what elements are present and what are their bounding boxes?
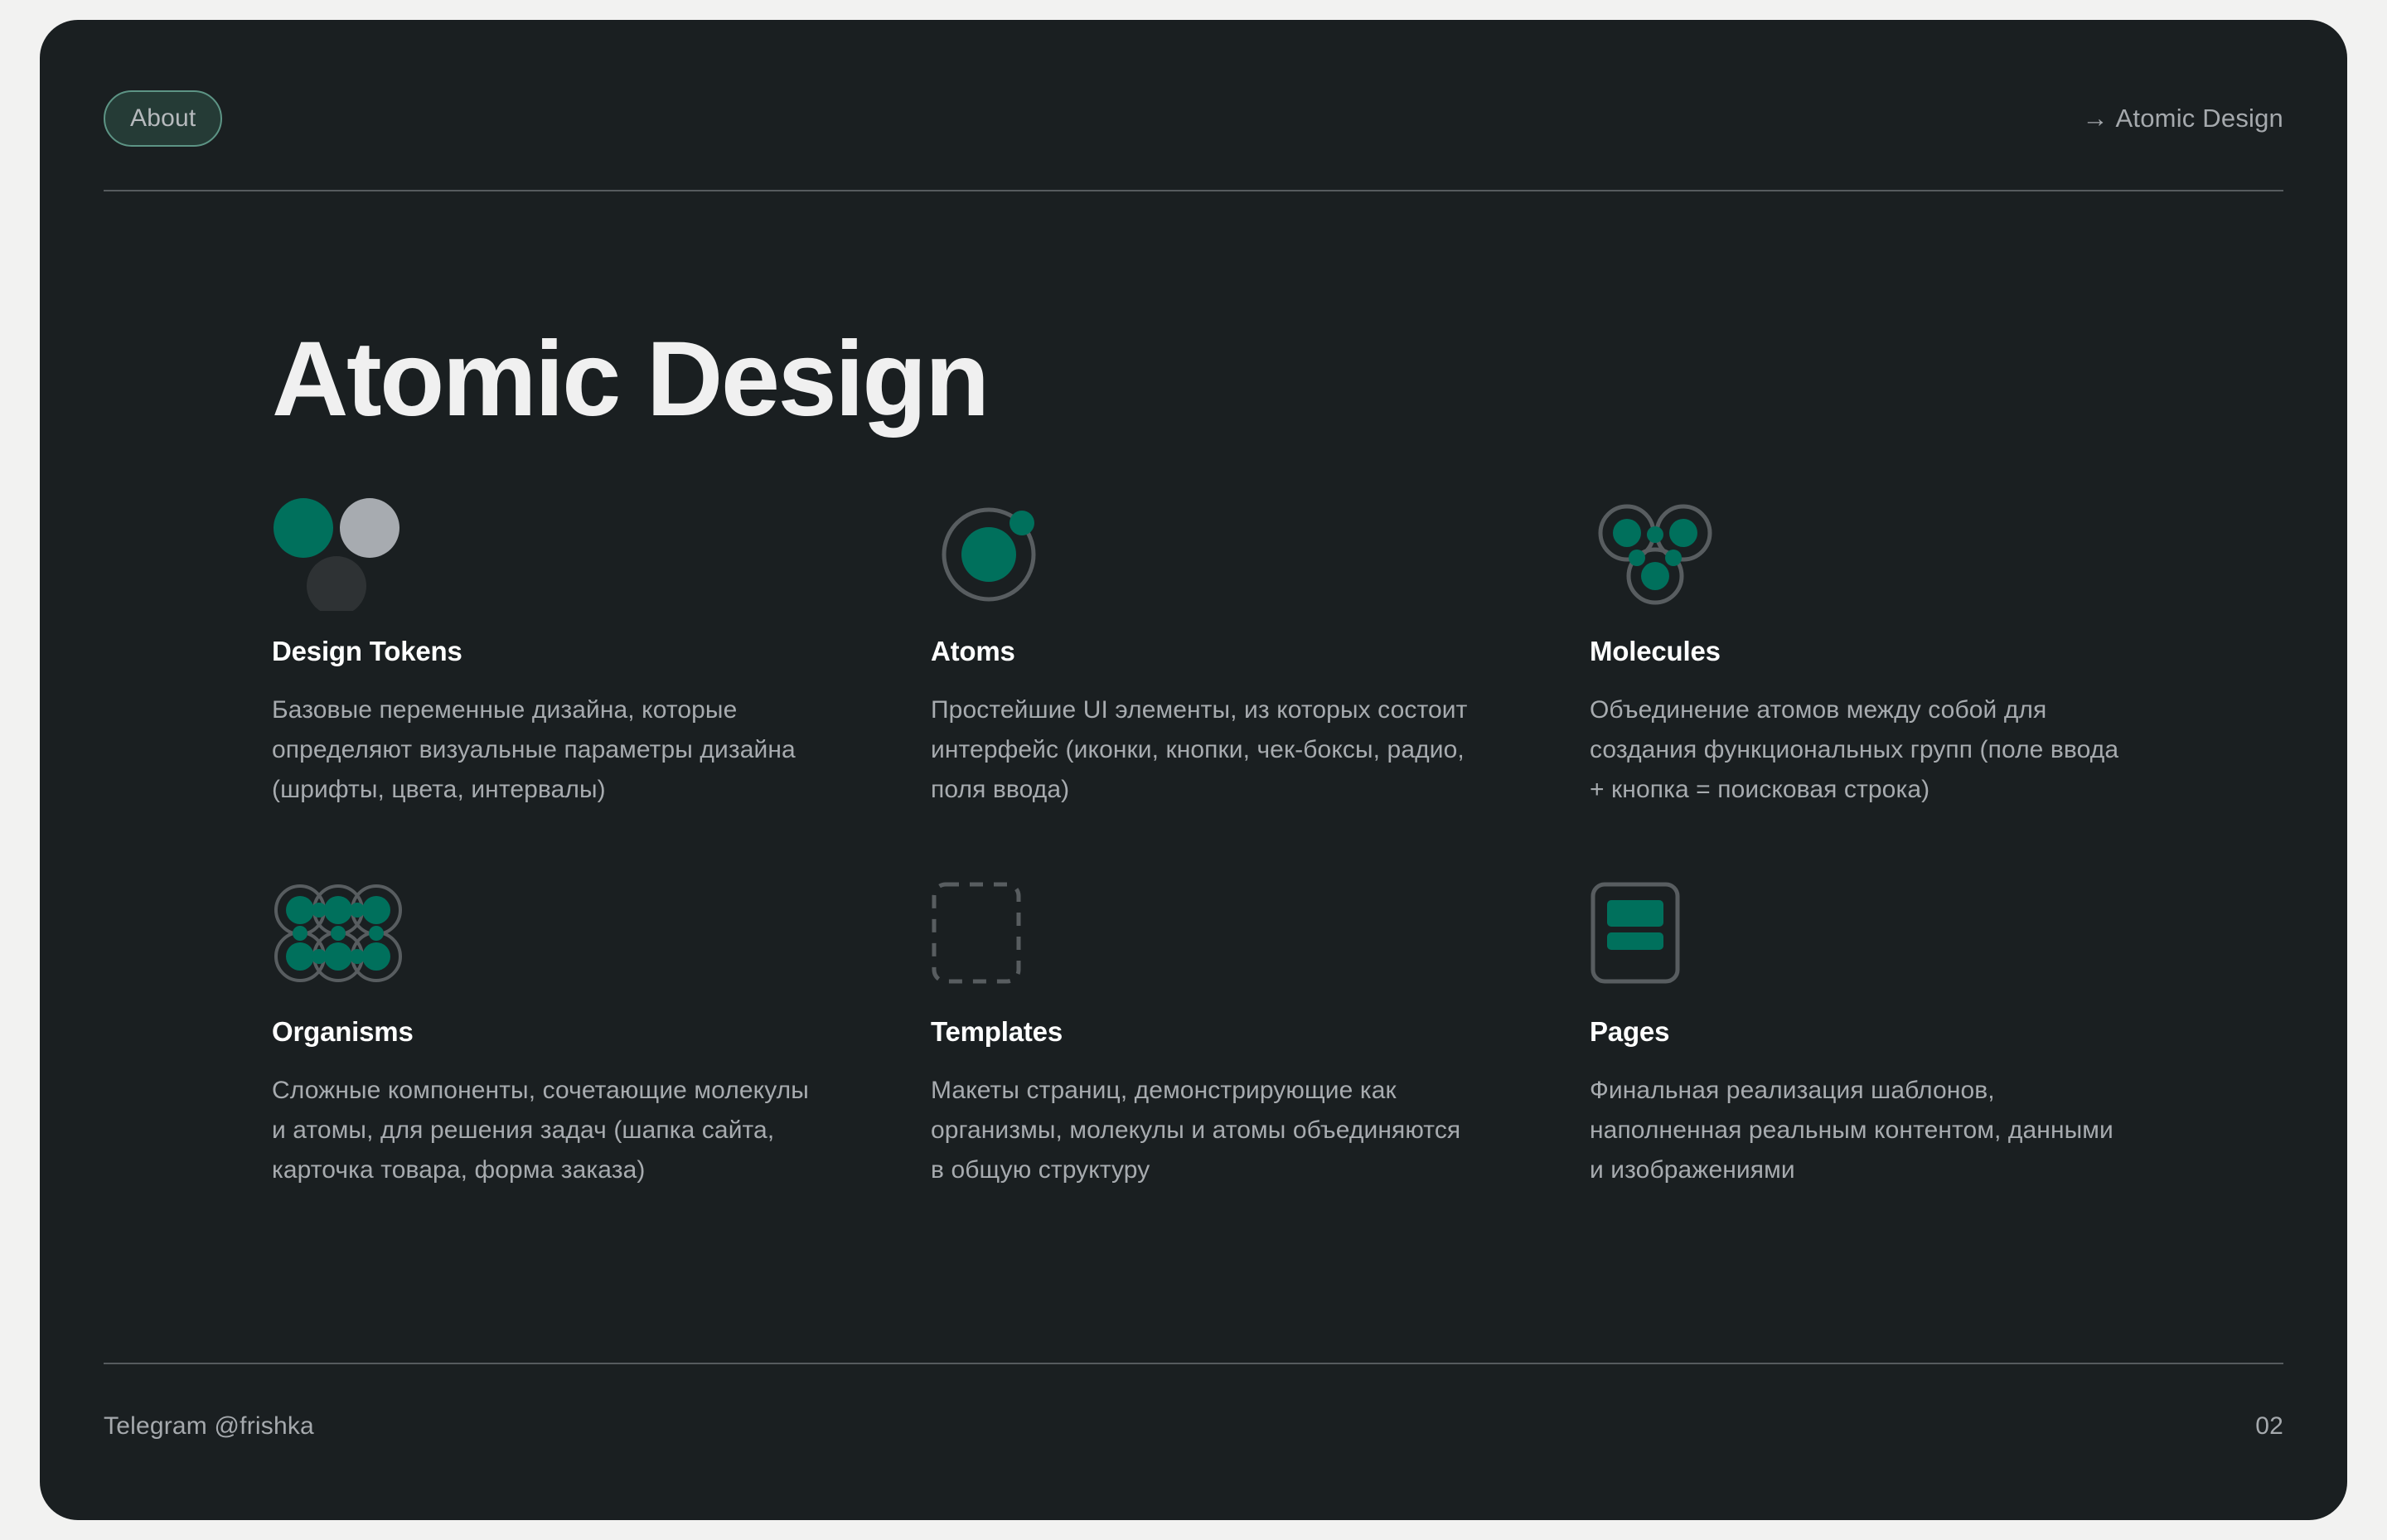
card-molecules: Molecules Объединение атомов между собой… [1590, 484, 2220, 810]
card-title: Atoms [931, 636, 1561, 667]
section-link-atomic-design[interactable]: →Atomic Design [2082, 104, 2283, 133]
molecules-icon-svg [1590, 495, 1722, 611]
concept-grid: Design Tokens Базовые переменные дизайна… [272, 484, 2261, 1190]
card-atoms: Atoms Простейшие UI элементы, из которых… [931, 484, 1561, 810]
card-body: Макеты страниц, демонстрирующие как орга… [931, 1071, 1561, 1190]
card-design-tokens: Design Tokens Базовые переменные дизайна… [272, 484, 902, 810]
atoms-icon [931, 484, 1561, 621]
card-templates: Templates Макеты страниц, демонстрирующи… [931, 864, 1561, 1190]
contact-handle[interactable]: Telegram @frishka [104, 1412, 314, 1441]
card-title: Molecules [1590, 636, 2220, 667]
page-number: 02 [2255, 1412, 2283, 1441]
molecules-icon [1590, 484, 2220, 621]
organisms-icon [272, 864, 902, 1001]
header-divider [104, 190, 2283, 191]
card-title: Organisms [272, 1016, 902, 1048]
card-body: Простейшие UI элементы, из которых состо… [931, 690, 1561, 810]
page-title: Atomic Design [272, 327, 988, 433]
card-body: Объединение атомов между собой для созда… [1590, 690, 2220, 810]
pages-icon-svg [1590, 881, 1681, 985]
slide-footer: Telegram @frishka 02 [104, 1412, 2283, 1441]
templates-icon [931, 864, 1561, 1001]
slide-canvas: About →Atomic Design Atomic Design Desig… [40, 20, 2347, 1520]
card-body: Базовые переменные дизайна, которые опре… [272, 690, 902, 810]
about-button[interactable]: About [104, 90, 222, 147]
arrow-right-icon: → [2082, 104, 2108, 133]
pages-icon [1590, 864, 2220, 1001]
card-body: Сложные компоненты, сочетающие молекулы … [272, 1071, 902, 1190]
card-body: Финальная реализация шаблонов, наполненн… [1590, 1071, 2220, 1190]
organisms-icon-svg [272, 884, 404, 982]
slide-header: About →Atomic Design [104, 83, 2283, 154]
design-tokens-icon [272, 484, 902, 621]
card-title: Design Tokens [272, 636, 902, 667]
atoms-icon-svg [931, 495, 1055, 611]
design-tokens-icon-svg [272, 495, 404, 611]
card-pages: Pages Финальная реализация шаблонов, нап… [1590, 864, 2220, 1190]
about-button-label: About [130, 104, 196, 133]
card-title: Pages [1590, 1016, 2220, 1048]
card-title: Templates [931, 1016, 1561, 1048]
section-link-label: Atomic Design [2116, 104, 2283, 133]
templates-icon-svg [931, 881, 1022, 985]
card-organisms: Organisms Сложные компоненты, сочетающие… [272, 864, 902, 1190]
footer-divider [104, 1363, 2283, 1364]
